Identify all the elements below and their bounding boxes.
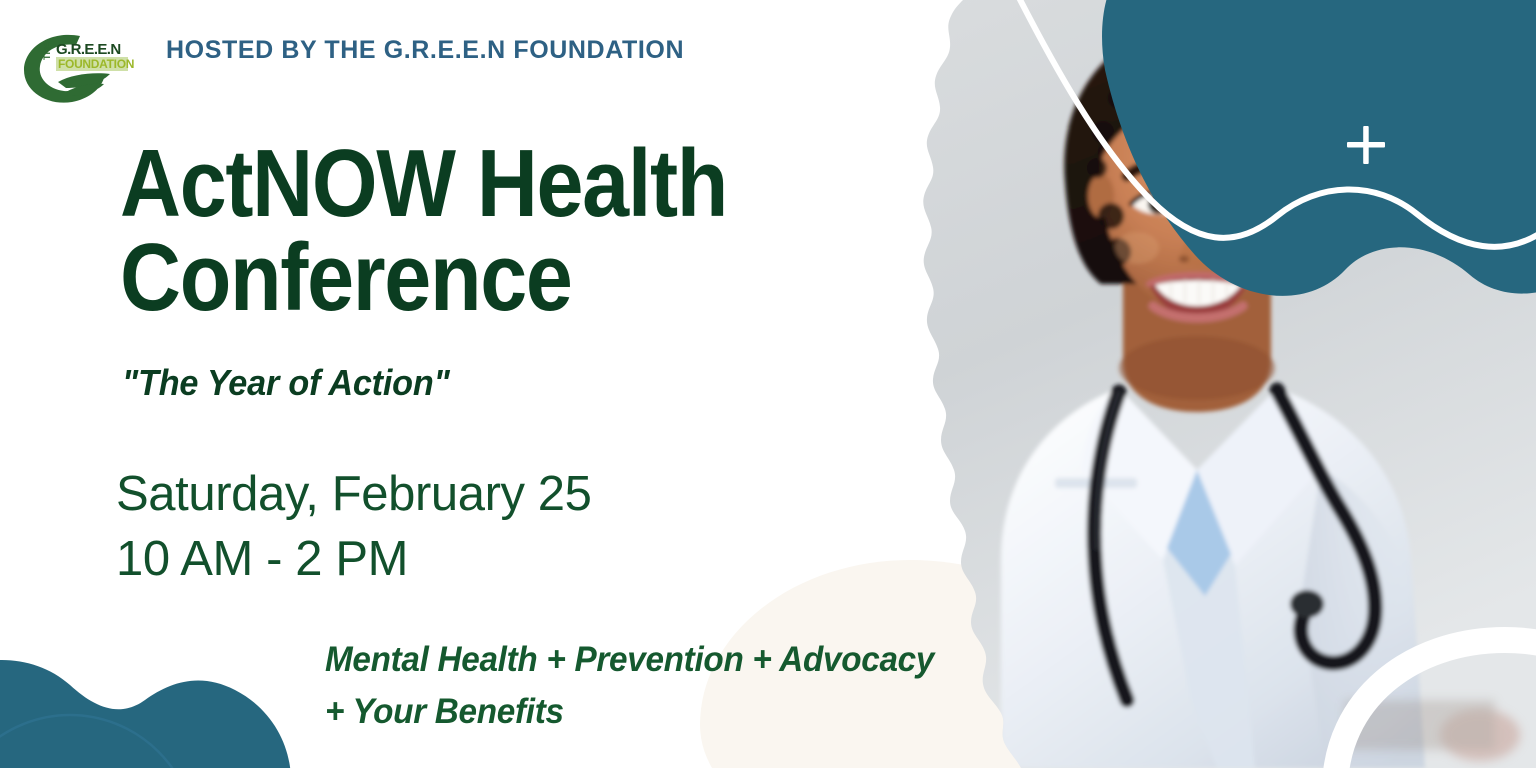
logo-the-text: THE (42, 42, 52, 60)
headline-line-2: Conference (120, 231, 824, 325)
topics-line-1: Mental Health + Prevention + Advocacy (325, 640, 934, 679)
green-foundation-logo: THE G.R.E.E.N FOUNDATION (14, 28, 136, 106)
headline-line-1: ActNOW Health (120, 137, 824, 231)
event-datetime: Saturday, February 25 10 AM - 2 PM (116, 462, 592, 592)
event-tagline: "The Year of Action" (122, 362, 450, 404)
event-date: Saturday, February 25 (116, 462, 592, 527)
logo-green-text: G.R.E.E.N (56, 41, 121, 58)
event-flyer: THE G.R.E.E.N FOUNDATION HOSTED BY THE G… (0, 0, 1536, 768)
doctor-photo-panel (905, 0, 1536, 768)
logo-foundation-text: FOUNDATION (58, 57, 134, 71)
flyer-text-content: THE G.R.E.E.N FOUNDATION HOSTED BY THE G… (0, 0, 960, 768)
page-title: ActNOW Health Conference (120, 137, 824, 325)
event-topics: Mental Health + Prevention + Advocacy + … (325, 634, 971, 738)
green-foundation-logo-mark: THE G.R.E.E.N FOUNDATION (14, 28, 136, 106)
event-time: 10 AM - 2 PM (116, 527, 592, 592)
topics-line-2: + Your Benefits (325, 692, 564, 731)
hosted-by-label: HOSTED BY THE G.R.E.E.N FOUNDATION (166, 36, 684, 65)
